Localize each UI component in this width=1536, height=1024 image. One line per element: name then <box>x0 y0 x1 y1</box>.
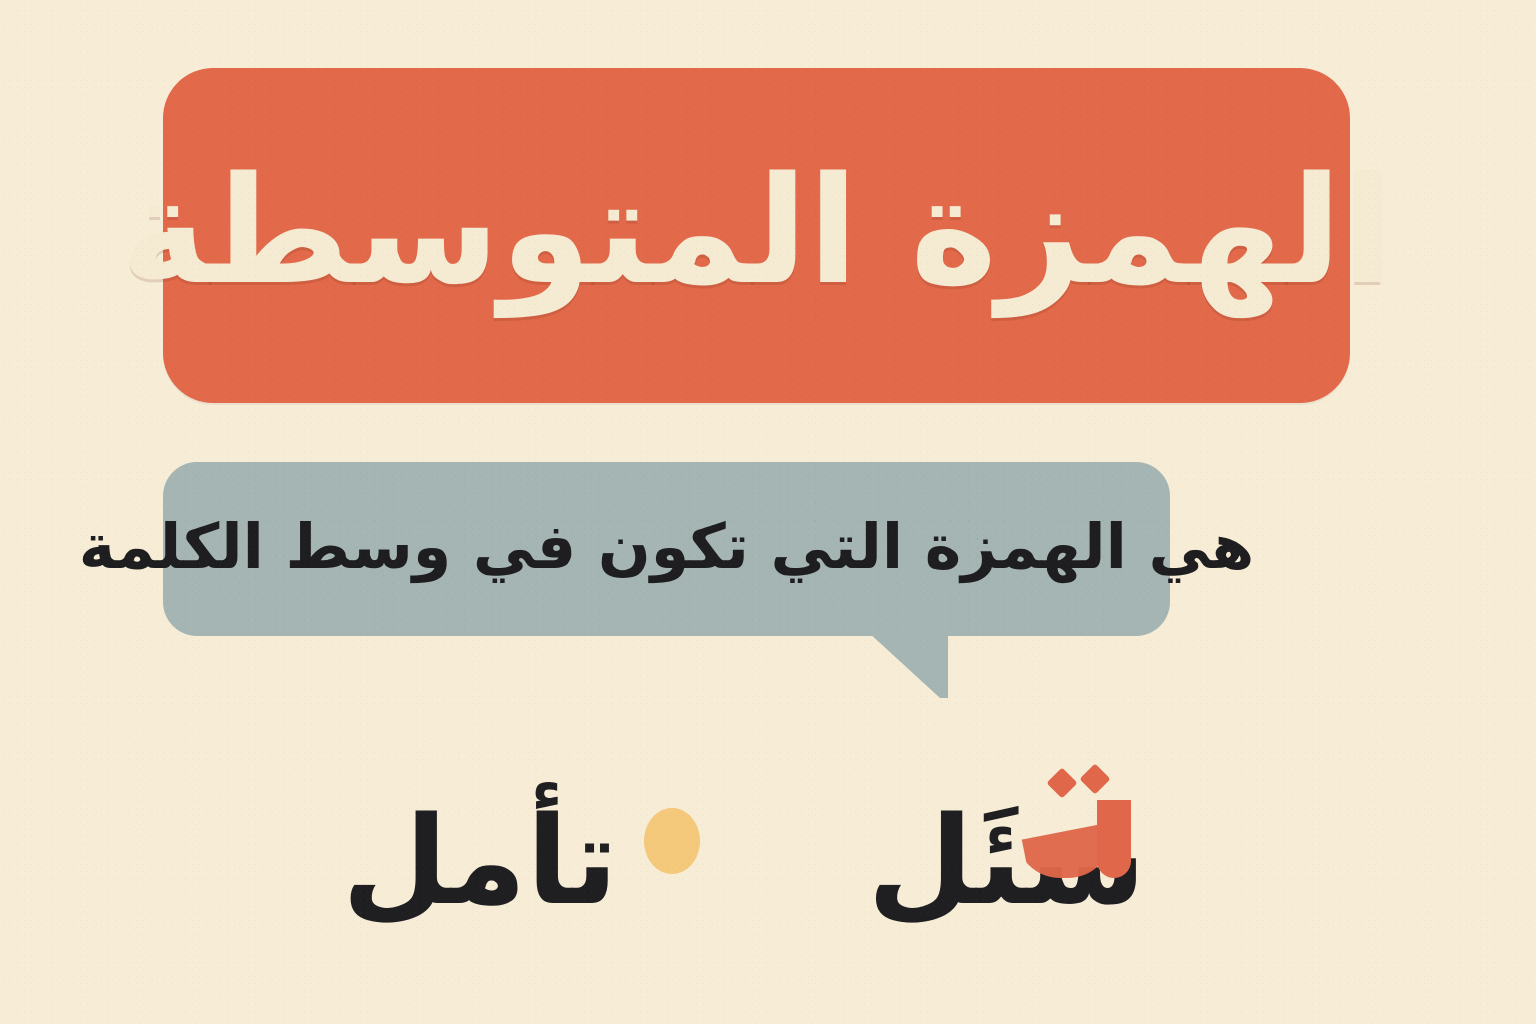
speech-bubble-tail-icon <box>868 632 948 698</box>
definition-speech-bubble: هي الهمزة التي تكون في وسط الكلمة <box>163 462 1170 636</box>
page-title: الهمزة المتوسطة <box>163 68 1350 403</box>
definition-text: هي الهمزة التي تكون في وسط الكلمة <box>163 462 1170 636</box>
separator-dot-icon <box>644 808 700 874</box>
example-word-taammal: تأمل <box>342 800 618 922</box>
poster-canvas: الهمزة المتوسطة هي الهمزة التي تكون في و… <box>0 0 1536 1024</box>
examples-row: تأمل سئَل <box>0 700 1536 930</box>
title-banner: الهمزة المتوسطة <box>163 68 1350 403</box>
example-word-suila: سئَل <box>867 800 1146 922</box>
